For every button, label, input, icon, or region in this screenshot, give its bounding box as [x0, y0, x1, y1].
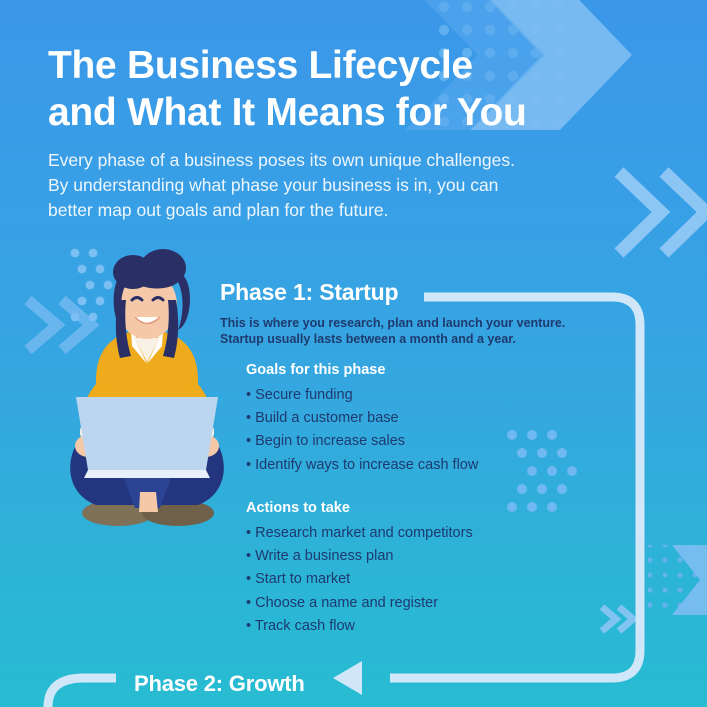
phase2-heading: Phase 2: Growth: [134, 671, 305, 697]
list-item: • Start to market: [246, 568, 473, 591]
phase1-description: This is where you research, plan and lau…: [220, 315, 640, 347]
double-chevron-right-icon-right: [619, 172, 706, 253]
phase1-actions-heading: Actions to take: [246, 500, 473, 516]
dot-diamond-pattern-center: [507, 430, 577, 512]
page-subtitle: Every phase of a business poses its own …: [48, 148, 608, 223]
list-item: • Begin to increase sales: [246, 430, 478, 453]
page-title-line1: The Business Lifecycle: [48, 42, 628, 89]
double-chevron-right-icon-bottom: [602, 607, 633, 631]
phase1-description-line1: This is where you research, plan and lau…: [220, 315, 640, 331]
list-item: • Track cash flow: [246, 615, 473, 638]
phase1-goals-group: Goals for this phase • Secure funding • …: [246, 362, 478, 477]
page-title-line2: and What It Means for You: [48, 89, 628, 136]
infographic-canvas: The Business Lifecycle and What It Means…: [0, 0, 707, 707]
double-chevron-right-icon-left: [28, 300, 91, 350]
page-subtitle-line3: better map out goals and plan for the fu…: [48, 198, 608, 223]
page-title: The Business Lifecycle and What It Means…: [48, 42, 628, 136]
list-item: • Choose a name and register: [246, 592, 473, 615]
list-item: • Secure funding: [246, 384, 478, 407]
list-item: • Write a business plan: [246, 545, 473, 568]
woman-with-laptop-illustration: [70, 249, 224, 526]
list-item: • Build a customer base: [246, 407, 478, 430]
arrow-left-icon: [333, 661, 362, 695]
phase1-actions-group: Actions to take • Research market and co…: [246, 500, 473, 638]
list-item: • Research market and competitors: [246, 522, 473, 545]
phase1-goals-heading: Goals for this phase: [246, 362, 478, 378]
list-item: • Identify ways to increase cash flow: [246, 454, 478, 477]
page-subtitle-line2: By understanding what phase your busines…: [48, 173, 608, 198]
phase1-heading: Phase 1: Startup: [220, 279, 398, 306]
page-subtitle-line1: Every phase of a business poses its own …: [48, 148, 608, 173]
phase1-description-line2: Startup usually lasts between a month an…: [220, 331, 640, 347]
